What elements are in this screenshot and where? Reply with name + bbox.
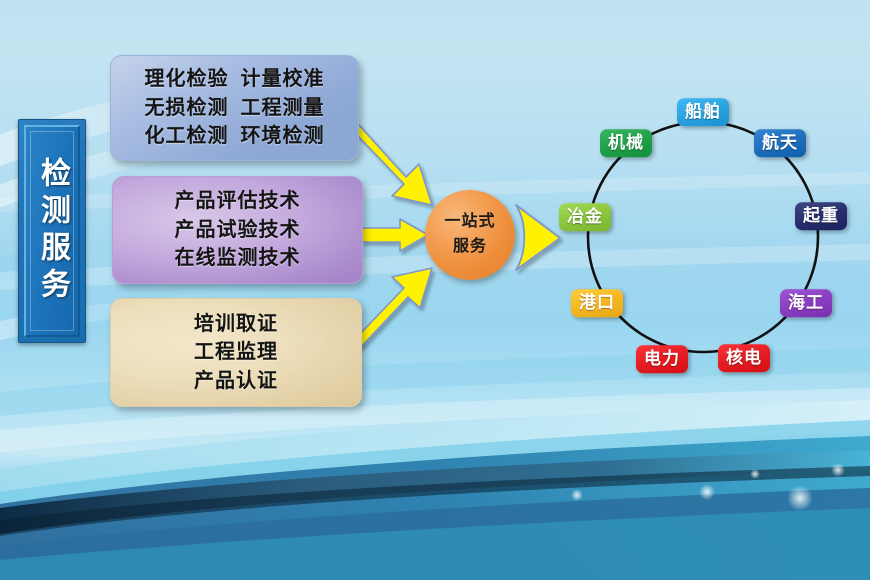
industry-node[interactable]: 起重 bbox=[795, 202, 847, 230]
industry-node-label: 海工 bbox=[788, 293, 824, 312]
industry-ring-circle bbox=[0, 0, 870, 580]
industry-node[interactable]: 冶金 bbox=[559, 203, 611, 231]
industry-node[interactable]: 航天 bbox=[754, 129, 806, 157]
industry-node[interactable]: 港口 bbox=[571, 289, 623, 317]
slide-canvas: 检测服务 理化检验 计量校准 无损检测 工程测量 化工检测 bbox=[0, 0, 870, 580]
industry-node-label: 冶金 bbox=[567, 207, 603, 226]
industry-node-label: 电力 bbox=[644, 349, 680, 368]
industry-node[interactable]: 电力 bbox=[636, 345, 688, 373]
industry-node[interactable]: 船舶 bbox=[677, 98, 729, 126]
industry-node-label: 起重 bbox=[803, 206, 839, 225]
industry-node-label: 核电 bbox=[726, 348, 762, 367]
industry-node-label: 机械 bbox=[608, 133, 644, 152]
bottom-artifact-strip bbox=[0, 574, 870, 580]
industry-node-label: 港口 bbox=[579, 293, 615, 312]
industry-node[interactable]: 机械 bbox=[600, 129, 652, 157]
industry-node[interactable]: 核电 bbox=[718, 344, 770, 372]
industry-node[interactable]: 海工 bbox=[780, 289, 832, 317]
industry-ring: 船舶航天起重海工核电电力港口冶金机械 bbox=[0, 0, 870, 580]
industry-node-label: 航天 bbox=[762, 133, 798, 152]
industry-node-label: 船舶 bbox=[685, 102, 721, 121]
